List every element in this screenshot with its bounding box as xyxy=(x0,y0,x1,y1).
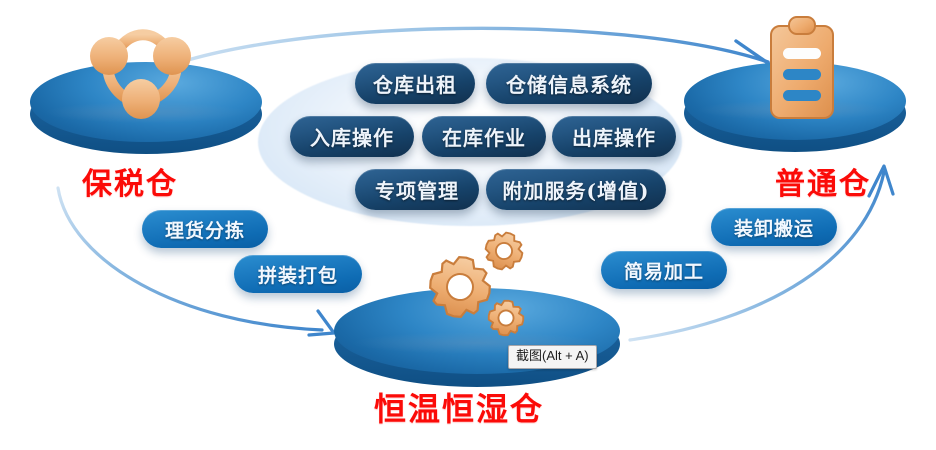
pill-label: 仓储信息系统 xyxy=(506,69,632,98)
three-people-icon xyxy=(84,14,194,119)
node-label-constant-temp-warehouse: 恒温恒湿仓 xyxy=(374,384,544,430)
diagram-canvas: 仓库出租 仓储信息系统 入库操作 在库作业 出库操作 专项管理 附加服务(增值)… xyxy=(0,0,936,450)
service-pill-warehouse-rental[interactable]: 仓库出租 xyxy=(355,63,475,104)
service-pill-special-management[interactable]: 专项管理 xyxy=(355,169,479,210)
pill-label: 理货分拣 xyxy=(165,216,245,243)
pill-label: 附加服务(增值) xyxy=(503,175,650,204)
tooltip-label: 截图(Alt + A) xyxy=(516,348,589,363)
service-pill-in-warehouse-operation[interactable]: 在库作业 xyxy=(422,116,546,157)
pill-label: 在库作业 xyxy=(442,122,526,151)
service-pill-simple-processing[interactable]: 简易加工 xyxy=(601,251,727,289)
service-pill-warehouse-info-system[interactable]: 仓储信息系统 xyxy=(486,63,652,104)
service-pill-loading-unloading[interactable]: 装卸搬运 xyxy=(711,208,837,246)
pill-label: 专项管理 xyxy=(375,175,459,204)
pill-label: 简易加工 xyxy=(624,257,704,284)
pill-label: 仓库出租 xyxy=(373,69,457,98)
screenshot-shortcut-tooltip: 截图(Alt + A) xyxy=(508,345,597,369)
gears-icon xyxy=(414,224,530,344)
service-pill-outbound-operation[interactable]: 出库操作 xyxy=(552,116,676,157)
pill-label: 出库操作 xyxy=(572,122,656,151)
node-label-general-warehouse: 普通仓 xyxy=(775,159,871,203)
service-pill-inbound-operation[interactable]: 入库操作 xyxy=(290,116,414,157)
clipboard-icon xyxy=(766,14,838,122)
pill-label: 装卸搬运 xyxy=(734,214,814,241)
service-pill-assembly-packing[interactable]: 拼装打包 xyxy=(234,255,362,293)
node-label-bonded-warehouse: 保税仓 xyxy=(82,159,178,203)
pill-label: 入库操作 xyxy=(310,122,394,151)
service-pill-value-added-service[interactable]: 附加服务(增值) xyxy=(486,169,666,210)
service-pill-sorting[interactable]: 理货分拣 xyxy=(142,210,268,248)
pill-label: 拼装打包 xyxy=(258,261,338,288)
